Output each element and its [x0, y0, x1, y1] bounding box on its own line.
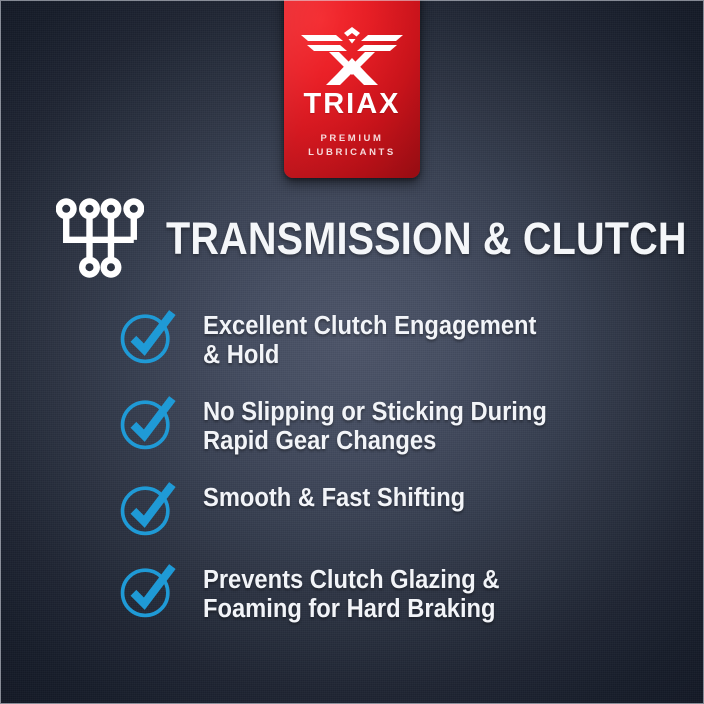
benefit-line-1: Excellent Clutch Engagement	[203, 312, 536, 341]
check-circle-icon	[118, 308, 176, 366]
headline-row: TRANSMISSION & CLUTCH	[56, 192, 656, 284]
check-circle-icon	[118, 562, 176, 620]
check-circle-icon	[118, 394, 176, 452]
benefit-item-2: No Slipping or Sticking During Rapid Gea…	[118, 392, 658, 456]
check-circle-icon	[118, 480, 176, 538]
benefit-text: No Slipping or Sticking During Rapid Gea…	[203, 392, 547, 456]
benefit-line-1: Prevents Clutch Glazing &	[203, 566, 499, 595]
gear-shift-pattern-icon	[56, 196, 144, 280]
brand-tagline-lubricants: LUBRICANTS	[308, 146, 396, 160]
eagle-wings-x-emblem	[300, 24, 404, 86]
brand-logo-card: TRIAX PREMIUM LUBRICANTS	[284, 0, 420, 178]
benefit-list: Excellent Clutch Engagement & Hold No Sl…	[118, 306, 658, 646]
benefit-item-1: Excellent Clutch Engagement & Hold	[118, 306, 658, 370]
benefit-item-4: Prevents Clutch Glazing & Foaming for Ha…	[118, 560, 658, 624]
benefit-text: Excellent Clutch Engagement & Hold	[203, 306, 536, 370]
benefit-line-2: Foaming for Hard Braking	[203, 595, 499, 624]
benefit-line-1: No Slipping or Sticking During	[203, 398, 547, 427]
benefit-line-1: Smooth & Fast Shifting	[203, 484, 465, 513]
benefit-item-3: Smooth & Fast Shifting	[118, 478, 658, 538]
product-feature-graphic: TRIAX PREMIUM LUBRICANTS	[0, 0, 704, 704]
benefit-text: Prevents Clutch Glazing & Foaming for Ha…	[203, 560, 499, 624]
page-title: TRANSMISSION & CLUTCH	[166, 216, 687, 261]
brand-tagline-premium: PREMIUM	[320, 132, 383, 146]
benefit-line-2: & Hold	[203, 341, 536, 370]
brand-wordmark: TRIAX	[304, 90, 401, 119]
benefit-line-2: Rapid Gear Changes	[203, 427, 547, 456]
benefit-text: Smooth & Fast Shifting	[203, 478, 465, 513]
